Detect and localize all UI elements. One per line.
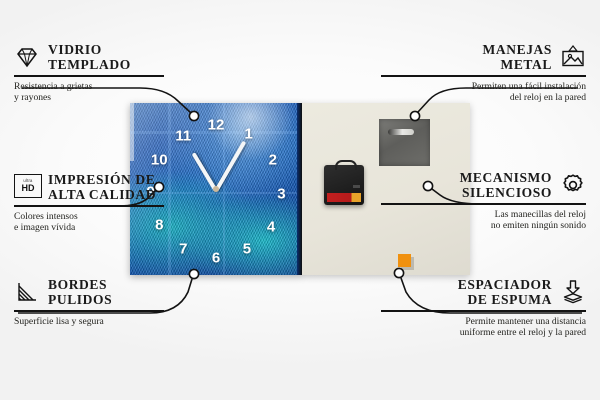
clock-number-1: 1 xyxy=(245,125,253,142)
clock-number-4: 4 xyxy=(267,218,275,235)
clock-number-2: 2 xyxy=(269,151,277,168)
feature-divider xyxy=(381,310,586,312)
metal-hanger-icon xyxy=(379,119,430,166)
feature-desc-line1: Permite mantener una distancia xyxy=(381,316,586,328)
clock-number-11: 11 xyxy=(175,127,191,144)
feature-divider xyxy=(14,75,164,77)
feature-desc-line1: Permiten una fácil instalación xyxy=(381,81,586,93)
feature-desc-line1: Superficie lisa y segura xyxy=(14,316,219,328)
clock-number-3: 3 xyxy=(277,186,285,203)
clock-number-5: 5 xyxy=(243,241,251,258)
hanging-frame-icon xyxy=(560,44,586,70)
foam-spacer-square xyxy=(398,254,411,267)
feature-desc-line1: Colores intensos xyxy=(14,211,219,223)
feature-title-line1: MANEJAS xyxy=(483,42,552,57)
feature-title-line2: METAL xyxy=(483,57,552,72)
ultra-hd-big-text: HD xyxy=(22,184,35,193)
feature-divider xyxy=(381,203,586,205)
clock-number-7: 7 xyxy=(179,241,187,258)
feature-vidrio-templado: VIDRIO TEMPLADO Resistencia a grietas y … xyxy=(14,42,219,104)
feature-title-line2: DE ESPUMA xyxy=(458,292,552,307)
feature-title-line2: TEMPLADO xyxy=(48,57,131,72)
feature-divider xyxy=(381,75,586,77)
diamond-icon xyxy=(14,44,40,70)
feature-impresion-alta-calidad: ultra HD IMPRESIÓN DE ALTA CALIDAD Color… xyxy=(14,172,219,234)
feature-desc-line2: del reloj en la pared xyxy=(381,92,586,104)
mechanism-dial xyxy=(353,185,360,188)
feature-title-line1: BORDES xyxy=(48,277,112,292)
feature-title-line1: VIDRIO xyxy=(48,42,131,57)
feature-desc-line2: no emiten ningún sonido xyxy=(381,220,586,232)
feature-title-line1: ESPACIADOR xyxy=(458,277,552,292)
feature-title-line2: ALTA CALIDAD xyxy=(48,187,156,202)
feature-espaciador-espuma: ESPACIADOR DE ESPUMA Permite mantener un… xyxy=(381,277,586,339)
feature-title-line2: SILENCIOSO xyxy=(460,185,552,200)
clock-number-10: 10 xyxy=(151,151,168,168)
gear-icon xyxy=(560,172,586,198)
ultra-hd-icon: ultra HD xyxy=(14,174,40,200)
clock-number-12: 12 xyxy=(208,117,225,134)
polished-edge-icon xyxy=(14,279,40,305)
hanger-slot xyxy=(388,129,414,135)
feature-desc-line2: e imagen vívida xyxy=(14,222,219,234)
mechanism-loop xyxy=(335,160,357,170)
feature-title-line1: IMPRESIÓN DE xyxy=(48,172,156,187)
feature-divider xyxy=(14,310,164,312)
feature-desc-line2: uniforme entre el reloj y la pared xyxy=(381,327,586,339)
feature-title-line2: PULIDOS xyxy=(48,292,112,307)
feature-title-line1: MECANISMO xyxy=(460,170,552,185)
feature-manejas-metal: MANEJAS METAL Permiten una fácil instala… xyxy=(381,42,586,104)
foam-spacer-arrow-icon xyxy=(560,279,586,305)
feature-mecanismo-silencioso: MECANISMO SILENCIOSO Las manecillas del … xyxy=(381,170,586,232)
feature-bordes-pulidos: BORDES PULIDOS Superficie lisa y segura xyxy=(14,277,219,327)
clock-mechanism xyxy=(324,165,364,205)
feature-desc-line1: Resistencia a grietas xyxy=(14,81,219,93)
feature-desc-line1: Las manecillas del reloj xyxy=(381,209,586,221)
mechanism-label xyxy=(327,193,361,202)
infographic-canvas: 12 1 2 3 4 5 6 7 8 9 10 11 xyxy=(0,0,600,400)
clock-number-6: 6 xyxy=(212,249,220,266)
feature-divider xyxy=(14,205,164,207)
feature-desc-line2: y rayones xyxy=(14,92,219,104)
